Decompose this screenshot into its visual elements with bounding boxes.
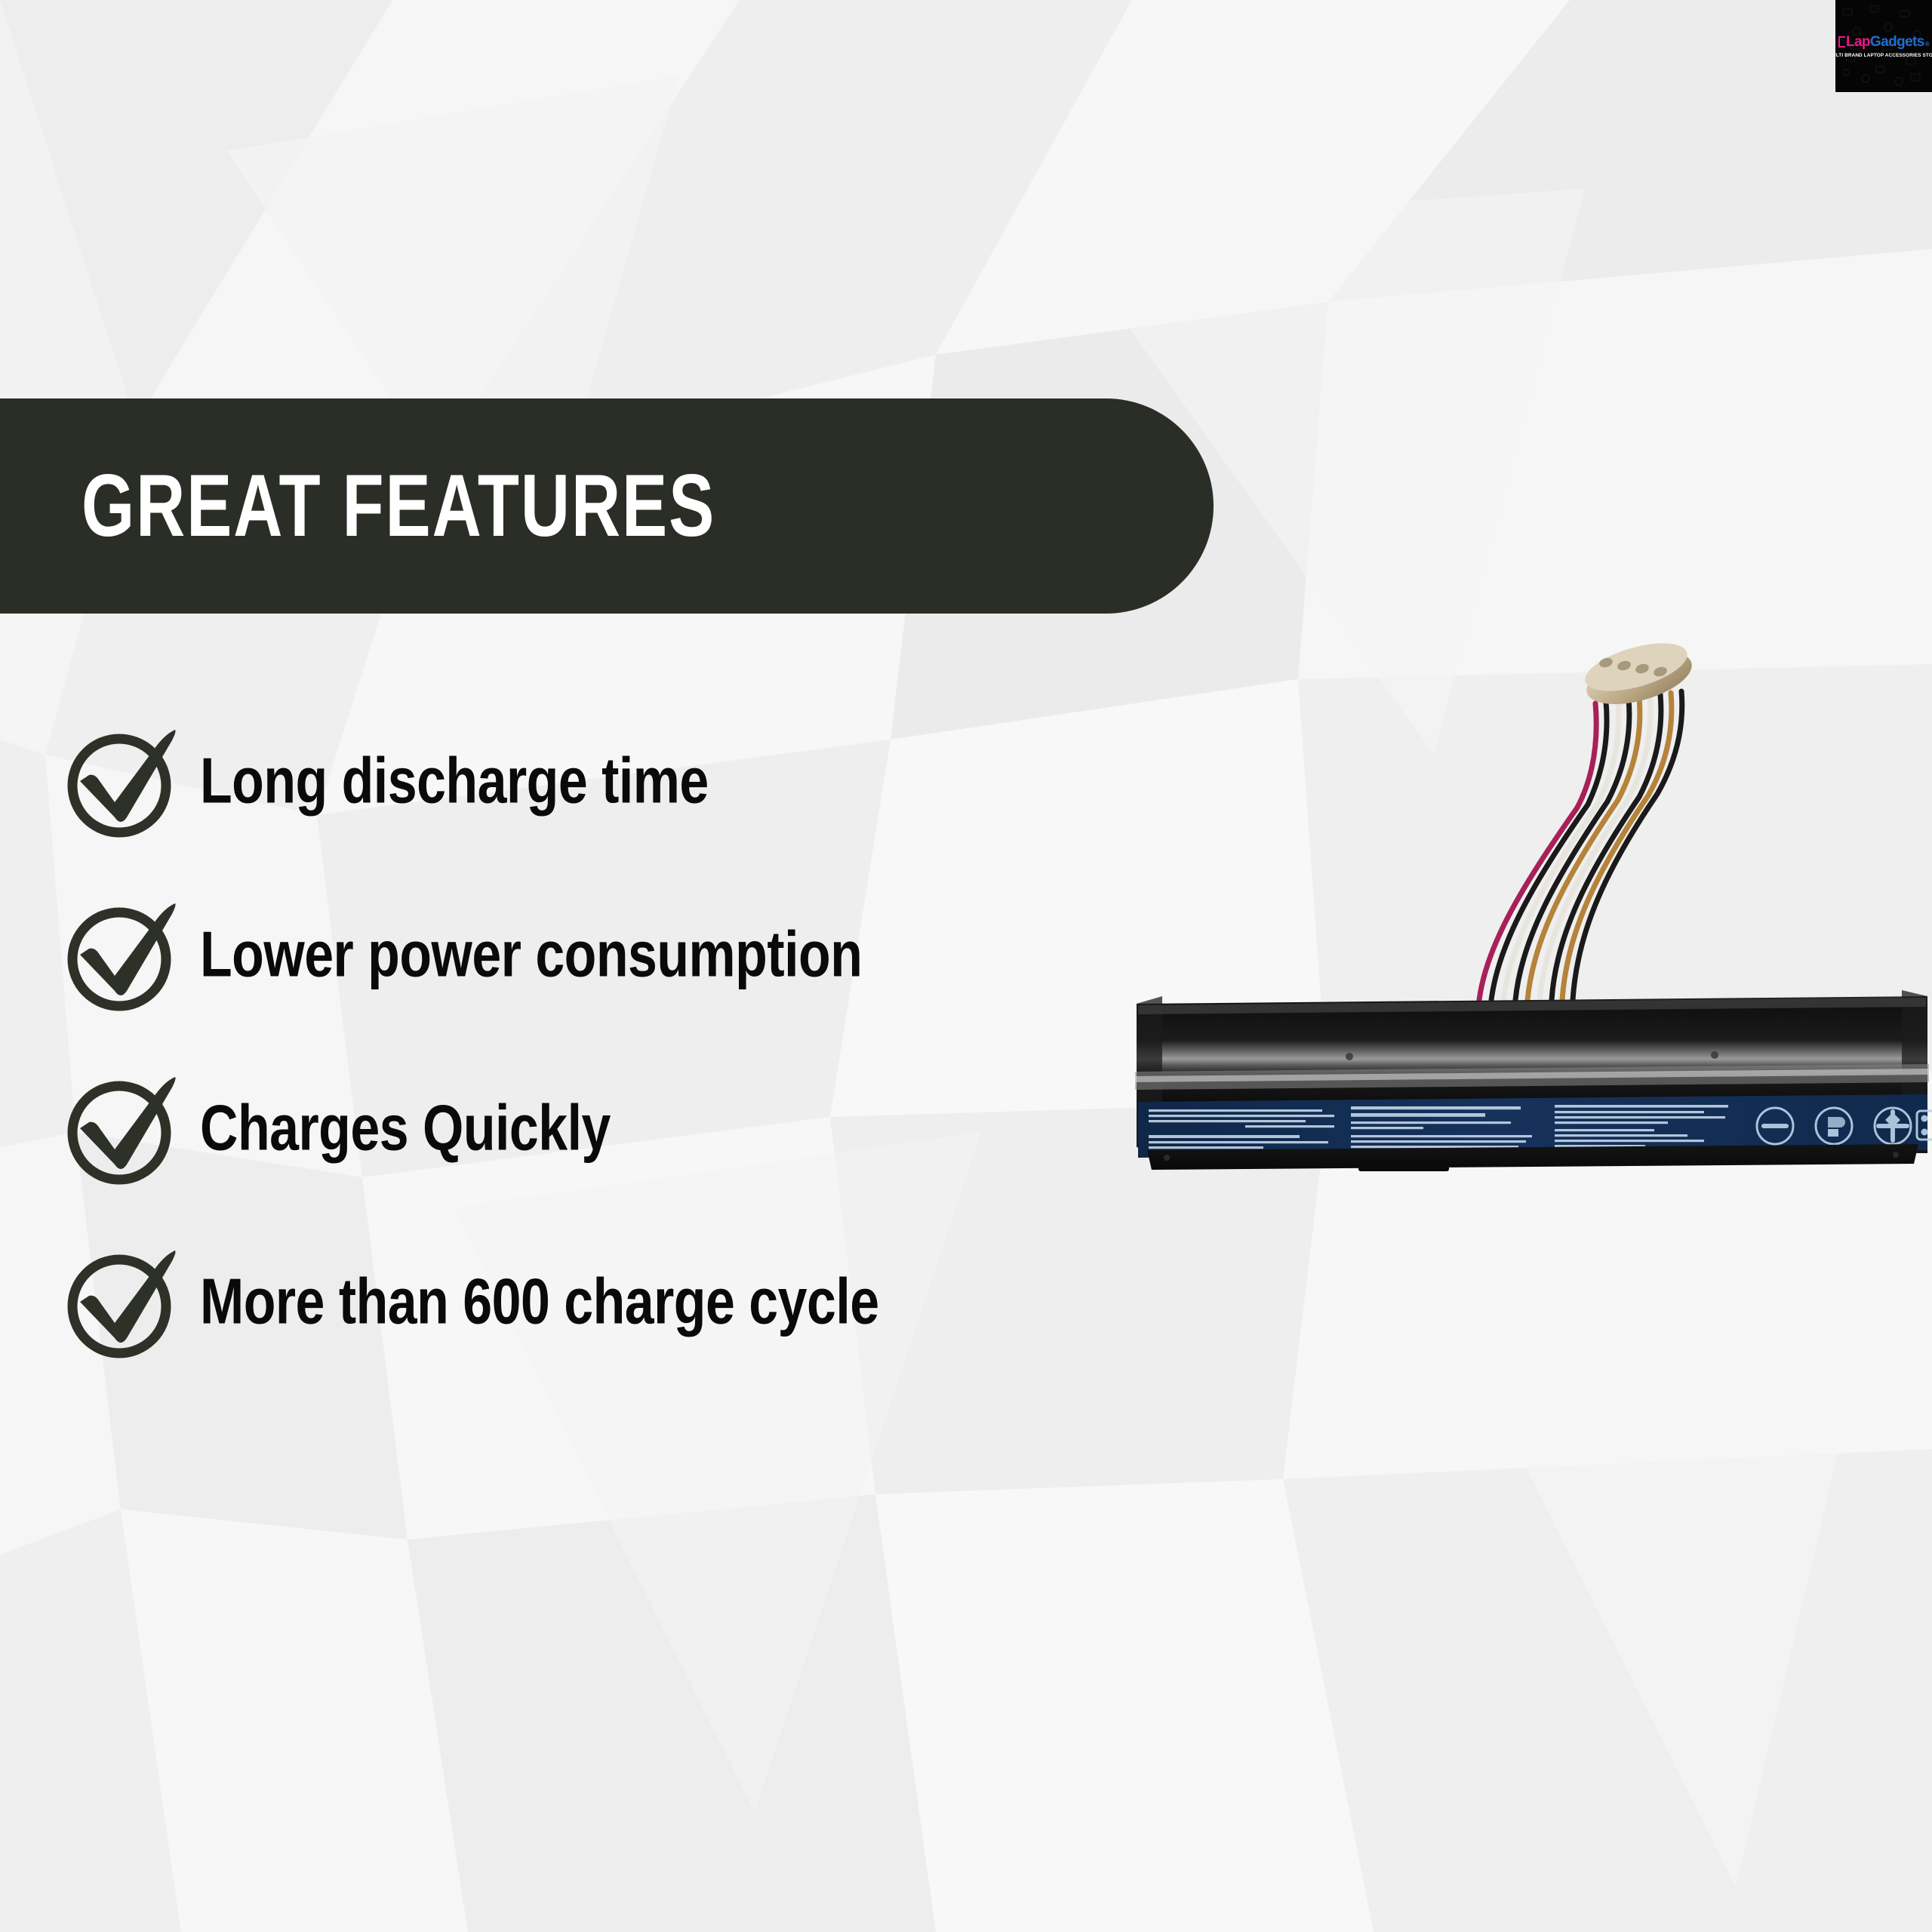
check-circle-icon (57, 721, 189, 841)
feature-label: Lower power consumption (200, 923, 862, 987)
check-circle-icon (57, 1241, 189, 1362)
feature-label: More than 600 charge cycle (200, 1270, 879, 1334)
feature-label: Charges Quickly (200, 1097, 611, 1161)
feature-item-4: More than 600 charge cycle (57, 1215, 900, 1389)
logo-brand-first: Lap (1846, 35, 1870, 49)
logo-tagline: MULTI BRAND LAPTOP ACCESSORIES STORE (1835, 53, 1932, 58)
great-features-banner: GREAT FEATURES (0, 398, 1214, 614)
laptop-battery-image (1132, 619, 1932, 1192)
banner-title: GREAT FEATURES (82, 462, 715, 550)
feature-item-2: Lower power consumption (57, 868, 900, 1041)
check-circle-icon (57, 894, 189, 1015)
feature-item-1: Long discharge time (57, 694, 900, 868)
brand-logo[interactable]: LapGadgets® MULTI BRAND LAPTOP ACCESSORI… (1835, 0, 1932, 92)
logo-wordmark: LapGadgets® (1838, 35, 1929, 49)
feature-item-3: Charges Quickly (57, 1041, 900, 1215)
logo-brand-second: Gadgets (1870, 35, 1924, 49)
feature-label: Long discharge time (200, 749, 709, 814)
registered-mark-icon: ® (1925, 42, 1929, 48)
check-circle-icon (57, 1068, 189, 1189)
logo-bracket-icon (1838, 36, 1845, 48)
feature-list: Long discharge time Lower power consumpt… (57, 694, 900, 1389)
